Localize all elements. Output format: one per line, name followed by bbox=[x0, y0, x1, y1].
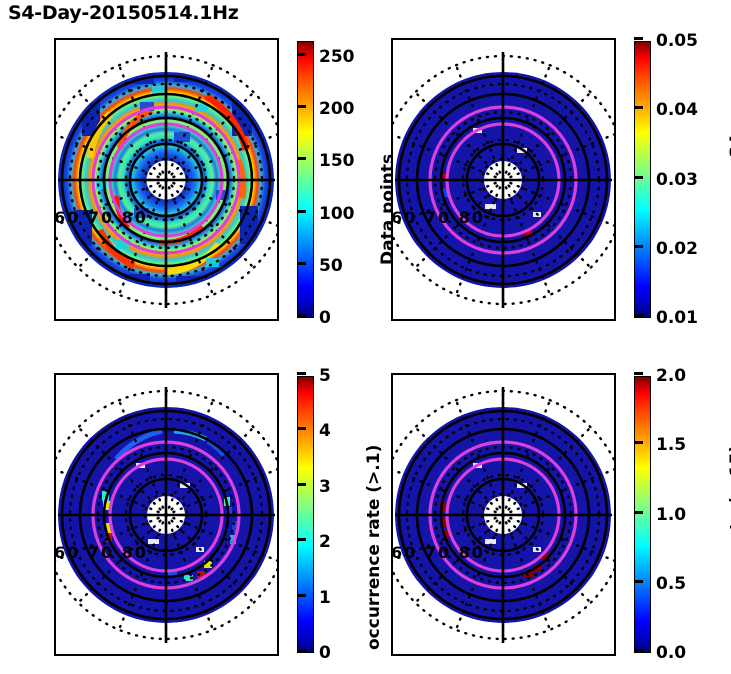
cb-tick-4-4 bbox=[634, 372, 643, 375]
cb-tick-4-1 bbox=[634, 580, 643, 583]
colorbar-mean-s4[interactable] bbox=[634, 41, 651, 318]
cb-tick-2-0 bbox=[634, 314, 643, 317]
cb-tick-1-3 bbox=[297, 157, 306, 160]
polar-canvas-3 bbox=[56, 375, 277, 654]
cb-label-2-4: 0.05 bbox=[656, 31, 698, 51]
cb-label-4-1: 0.5 bbox=[656, 574, 686, 594]
cb-label-3-2: 2 bbox=[319, 532, 331, 552]
colorbar-occurrence-01[interactable] bbox=[297, 376, 314, 653]
cb-tick-2-3 bbox=[634, 106, 643, 109]
cb-label-1-0: 0 bbox=[319, 308, 331, 328]
panel-mean-s4: 60 70 80 bbox=[391, 38, 616, 321]
cb-tick-3-2 bbox=[297, 538, 306, 541]
colorbar-title-occurrence-015: occurrence rate (>.15) bbox=[727, 445, 731, 662]
cb-tick-4-2 bbox=[634, 511, 643, 514]
axis-cross-4 bbox=[395, 387, 612, 643]
cb-label-1-4: 200 bbox=[319, 99, 355, 119]
colorbar-title-occurrence-01: occurrence rate (>.1) bbox=[364, 445, 384, 650]
polar-plot-mean-s4: 60 70 80 bbox=[393, 40, 614, 319]
cb-label-2-3: 0.04 bbox=[656, 100, 698, 120]
polar-plot-occurrence-015: 60 70 80 bbox=[393, 375, 614, 654]
figure-canvas: S4-Day-20150514.1Hz bbox=[0, 0, 731, 674]
colorbar-data-points[interactable] bbox=[297, 41, 314, 318]
cb-label-1-2: 100 bbox=[319, 204, 355, 224]
polar-canvas-2 bbox=[393, 40, 614, 319]
cb-tick-3-5 bbox=[297, 372, 306, 375]
cb-tick-2-2 bbox=[634, 176, 643, 179]
cb-label-4-3: 1.5 bbox=[656, 435, 686, 455]
cb-label-3-3: 3 bbox=[319, 477, 331, 497]
panel-data-points: 60 70 80 bbox=[54, 38, 279, 321]
polar-canvas-4 bbox=[393, 375, 614, 654]
cb-tick-1-0 bbox=[297, 314, 306, 317]
panel-occurrence-rate-gt-01: 60 70 80 bbox=[54, 373, 279, 656]
cb-tick-1-5 bbox=[297, 53, 306, 56]
cb-label-2-2: 0.03 bbox=[656, 170, 698, 190]
axis-cross-1 bbox=[58, 52, 275, 308]
cb-tick-3-1 bbox=[297, 594, 306, 597]
axis-cross-3 bbox=[58, 387, 275, 643]
cb-tick-1-1 bbox=[297, 262, 306, 265]
cb-label-3-4: 4 bbox=[319, 421, 331, 441]
panel-occurrence-rate-gt-015: 60 70 80 bbox=[391, 373, 616, 656]
cb-tick-3-0 bbox=[297, 649, 306, 652]
cb-label-4-0: 0.0 bbox=[656, 643, 686, 663]
cb-label-3-1: 1 bbox=[319, 588, 331, 608]
cb-tick-4-3 bbox=[634, 441, 643, 444]
cb-tick-2-1 bbox=[634, 245, 643, 248]
cb-label-4-4: 2.0 bbox=[656, 366, 686, 386]
cb-tick-3-3 bbox=[297, 483, 306, 486]
cb-label-1-3: 150 bbox=[319, 151, 355, 171]
polar-plot-data-points: 60 70 80 bbox=[56, 40, 277, 319]
cb-label-4-2: 1.0 bbox=[656, 505, 686, 525]
cb-label-3-0: 0 bbox=[319, 643, 331, 663]
cb-label-1-1: 50 bbox=[319, 256, 343, 276]
cb-tick-4-0 bbox=[634, 649, 643, 652]
polar-canvas-1 bbox=[56, 40, 277, 319]
cb-tick-1-2 bbox=[297, 210, 306, 213]
cb-label-1-5: 250 bbox=[319, 47, 355, 67]
colorbar-occurrence-015[interactable] bbox=[634, 376, 651, 653]
cb-tick-2-4 bbox=[634, 37, 643, 40]
cb-label-2-0: 0.01 bbox=[656, 308, 698, 328]
colorbar-title-mean-s4: mean S4 bbox=[727, 134, 731, 217]
figure-title: S4-Day-20150514.1Hz bbox=[8, 2, 239, 24]
polar-plot-occurrence-01: 60 70 80 bbox=[56, 375, 277, 654]
cb-tick-1-4 bbox=[297, 105, 306, 108]
cb-tick-3-4 bbox=[297, 427, 306, 430]
cb-label-3-5: 5 bbox=[319, 366, 331, 386]
axis-cross-2 bbox=[395, 52, 612, 308]
cb-label-2-1: 0.02 bbox=[656, 239, 698, 259]
